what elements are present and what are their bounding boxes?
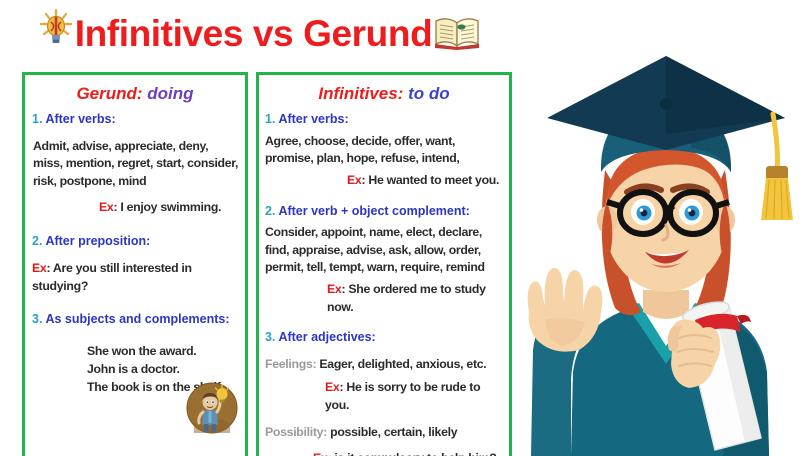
gerund-heading: Gerund: doing bbox=[31, 84, 239, 104]
gerund-section-1-example: Ex: I enjoy swimming. bbox=[31, 199, 239, 217]
infinitives-section-1-example: Ex: He wanted to meet you. bbox=[265, 172, 503, 190]
light-bulb-icon bbox=[40, 8, 74, 53]
infinitives-heading: Infinitives: to do bbox=[265, 84, 503, 104]
gerund-section-1-title: After verbs: bbox=[45, 112, 115, 126]
example-text: : He is sorry to be rude to you. bbox=[325, 380, 480, 412]
possibility-items: possible, certain, likely bbox=[327, 425, 457, 439]
infinitives-section-3-number: 3. bbox=[265, 330, 275, 344]
infinitives-section-1-heading: 1. After verbs: bbox=[265, 112, 503, 128]
example-text: : is it compulsory to help him? bbox=[327, 451, 496, 456]
infinitives-section-2-number: 2. bbox=[265, 204, 275, 218]
infinitives-heading-form: to do bbox=[408, 84, 450, 103]
gerund-section-3-title: As subjects and complements: bbox=[45, 312, 229, 326]
example-text: : She ordered me to study now. bbox=[327, 282, 486, 314]
gerund-section-2-heading: 2. After preposition: bbox=[31, 234, 239, 250]
example-tag: Ex bbox=[32, 261, 46, 275]
open-book-icon bbox=[434, 16, 480, 55]
gerund-section-2-number: 2. bbox=[32, 234, 42, 248]
gerund-section-1-list: Admit, advise, appreciate, deny, miss, m… bbox=[31, 138, 239, 190]
list-item: She won the award. bbox=[87, 342, 239, 360]
infinitives-section-2-title: After verb + object complement: bbox=[278, 204, 469, 218]
feelings-example: Ex: He is sorry to be rude to you. bbox=[265, 379, 503, 415]
example-tag: Ex bbox=[347, 173, 361, 187]
infinitives-section-2-example: Ex: She ordered me to study now. bbox=[265, 281, 503, 317]
gerund-section-1-number: 1. bbox=[32, 112, 42, 126]
infinitives-section-2-heading: 2. After verb + object complement: bbox=[265, 204, 503, 220]
example-text: : He wanted to meet you. bbox=[361, 173, 499, 187]
feelings-label: Feelings bbox=[265, 357, 312, 371]
feelings-items: Eager, delighted, anxious, etc. bbox=[316, 357, 486, 371]
infinitives-heading-term: Infinitives: bbox=[318, 84, 403, 103]
infinitives-section-3-heading: 3. After adjectives: bbox=[265, 330, 503, 346]
page-title: Infinitives vs Gerund bbox=[0, 2, 520, 64]
example-tag: Ex bbox=[313, 451, 327, 456]
title-text: Infinitives vs Gerund bbox=[75, 15, 433, 52]
graduate-student-illustration bbox=[523, 20, 810, 456]
possibility-label: Possibility bbox=[265, 425, 323, 439]
adjective-group-possibility: Possibility: possible, certain, likely bbox=[265, 424, 503, 442]
gerund-section-2-title: After preposition: bbox=[45, 234, 150, 248]
infographic-page: Infinitives vs Gerund bbox=[0, 0, 810, 456]
possibility-example: Ex: is it compulsory to help him? bbox=[265, 450, 503, 456]
example-tag: Ex bbox=[99, 200, 113, 214]
list-item: John is a doctor. bbox=[87, 360, 239, 378]
example-tag: Ex bbox=[327, 282, 341, 296]
gerund-heading-term: Gerund: bbox=[76, 84, 142, 103]
example-text: : Are you still interested in studying? bbox=[32, 261, 192, 293]
infinitives-section-1-title: After verbs: bbox=[278, 112, 348, 126]
infinitives-section-2-list: Consider, appoint, name, elect, declare,… bbox=[265, 224, 503, 276]
infinitives-panel: Infinitives: to do 1. After verbs: Agree… bbox=[256, 72, 512, 456]
adjective-group-feelings: Feelings: Eager, delighted, anxious, etc… bbox=[265, 356, 503, 374]
gerund-section-1-heading: 1. After verbs: bbox=[31, 112, 239, 128]
man-with-lightbulb-idea-icon bbox=[186, 382, 238, 434]
example-tag: Ex bbox=[325, 380, 339, 394]
infinitives-section-1-list: Agree, choose, decide, offer, want, prom… bbox=[265, 133, 503, 168]
example-text: : I enjoy swimming. bbox=[113, 200, 221, 214]
gerund-section-3-number: 3. bbox=[32, 312, 42, 326]
infinitives-section-1-number: 1. bbox=[265, 112, 275, 126]
gerund-section-2-example: Ex: Are you still interested in studying… bbox=[31, 260, 239, 296]
gerund-heading-form: doing bbox=[147, 84, 193, 103]
infinitives-section-3-title: After adjectives: bbox=[278, 330, 375, 344]
gerund-section-3-heading: 3. As subjects and complements: bbox=[31, 312, 239, 328]
